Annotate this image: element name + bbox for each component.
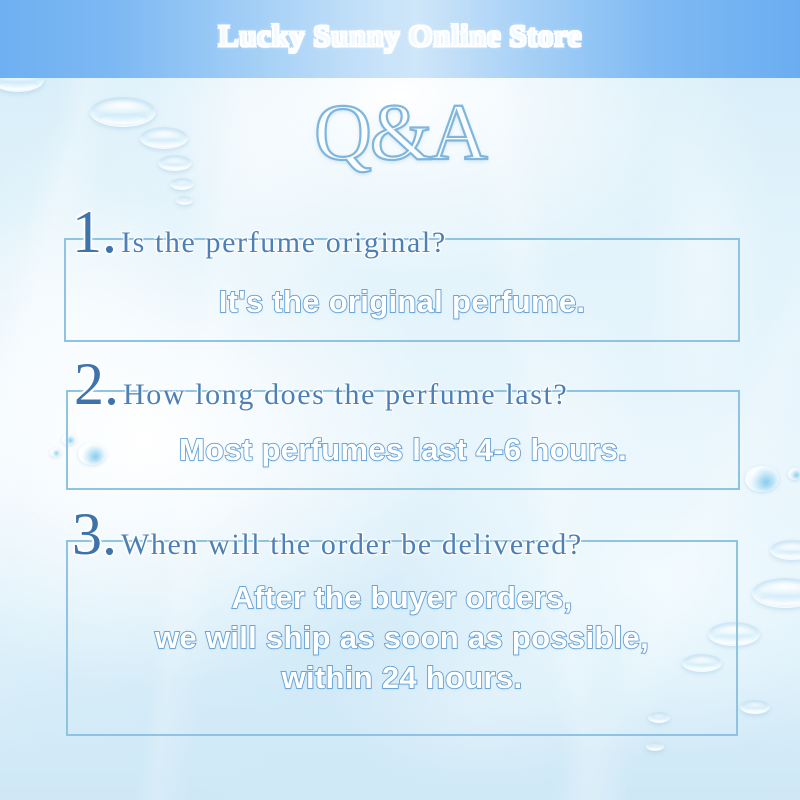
- page-title: Q&A: [0, 92, 800, 174]
- faq-question-row-1: 1. Is the perfume original?: [72, 202, 447, 262]
- faq-number-3: 3.: [72, 504, 117, 564]
- faq-number-1: 1.: [72, 202, 117, 262]
- faq-question-row-2: 2. How long does the perfume last?: [74, 354, 568, 414]
- faq-answer-2: Most perfumes last 4-6 hours.: [66, 430, 740, 470]
- faq-answer-line: Most perfumes last 4-6 hours.: [66, 430, 740, 470]
- faq-question-1: Is the perfume original?: [121, 226, 447, 260]
- faq-question-row-3: 3. When will the order be delivered?: [72, 504, 583, 564]
- faq-answer-1: It's the original perfume.: [64, 282, 740, 322]
- faq-number-2: 2.: [74, 354, 119, 414]
- faq-answer-line: within 24 hours.: [66, 658, 738, 698]
- faq-answer-line: we will ship as soon as possible,: [66, 618, 738, 658]
- faq-question-2: How long does the perfume last?: [123, 378, 568, 412]
- faq-question-3: When will the order be delivered?: [121, 528, 583, 562]
- faq-answer-line: It's the original perfume.: [64, 282, 740, 322]
- store-title: Lucky Sunny Online Store: [0, 18, 800, 54]
- faq-answer-line: After the buyer orders,: [66, 578, 738, 618]
- qa-poster: Lucky Sunny Online Store Q&A 1. Is the p…: [0, 0, 800, 800]
- faq-answer-3: After the buyer orders, we will ship as …: [66, 578, 738, 698]
